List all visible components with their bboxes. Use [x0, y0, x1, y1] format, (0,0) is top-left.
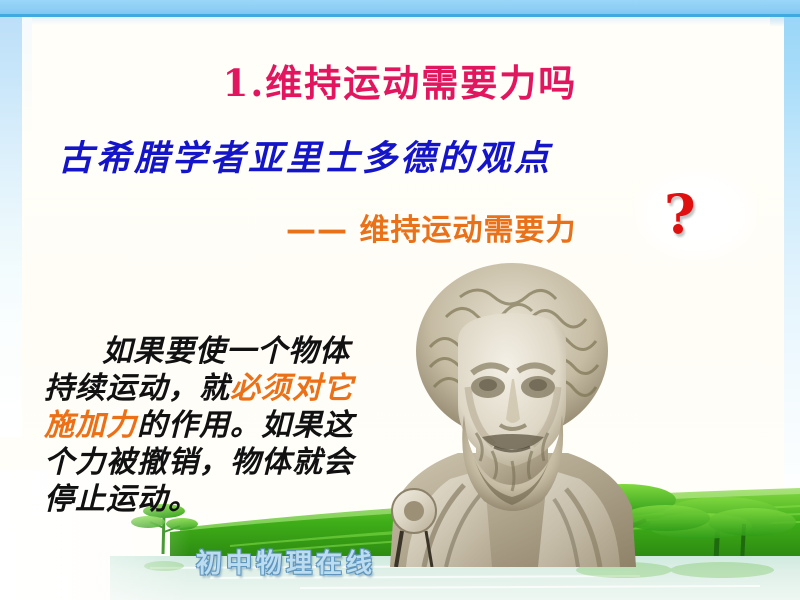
question-mark-halo	[636, 168, 756, 260]
top-decorative-bar	[0, 0, 800, 14]
right-band-corner	[770, 17, 784, 27]
slide-title: 1.维持运动需要力吗	[0, 53, 800, 107]
aristotle-statue-image	[372, 255, 652, 567]
question-mark-icon: ?	[664, 182, 696, 246]
watermark-text: 初中物理在线	[196, 543, 376, 580]
body-paragraph: 如果要使一个物体持续运动，就必须对它施加力的作用。如果这个力被撤销，物体就会停止…	[44, 333, 374, 518]
top-inner-shade	[22, 17, 784, 25]
conclusion-line: —— 维持运动需要力	[286, 205, 576, 249]
slide-subtitle: 古希腊学者亚里士多德的观点	[58, 130, 552, 181]
slide-canvas: 1.维持运动需要力吗 古希腊学者亚里士多德的观点 —— 维持运动需要力 ?	[0, 0, 800, 600]
